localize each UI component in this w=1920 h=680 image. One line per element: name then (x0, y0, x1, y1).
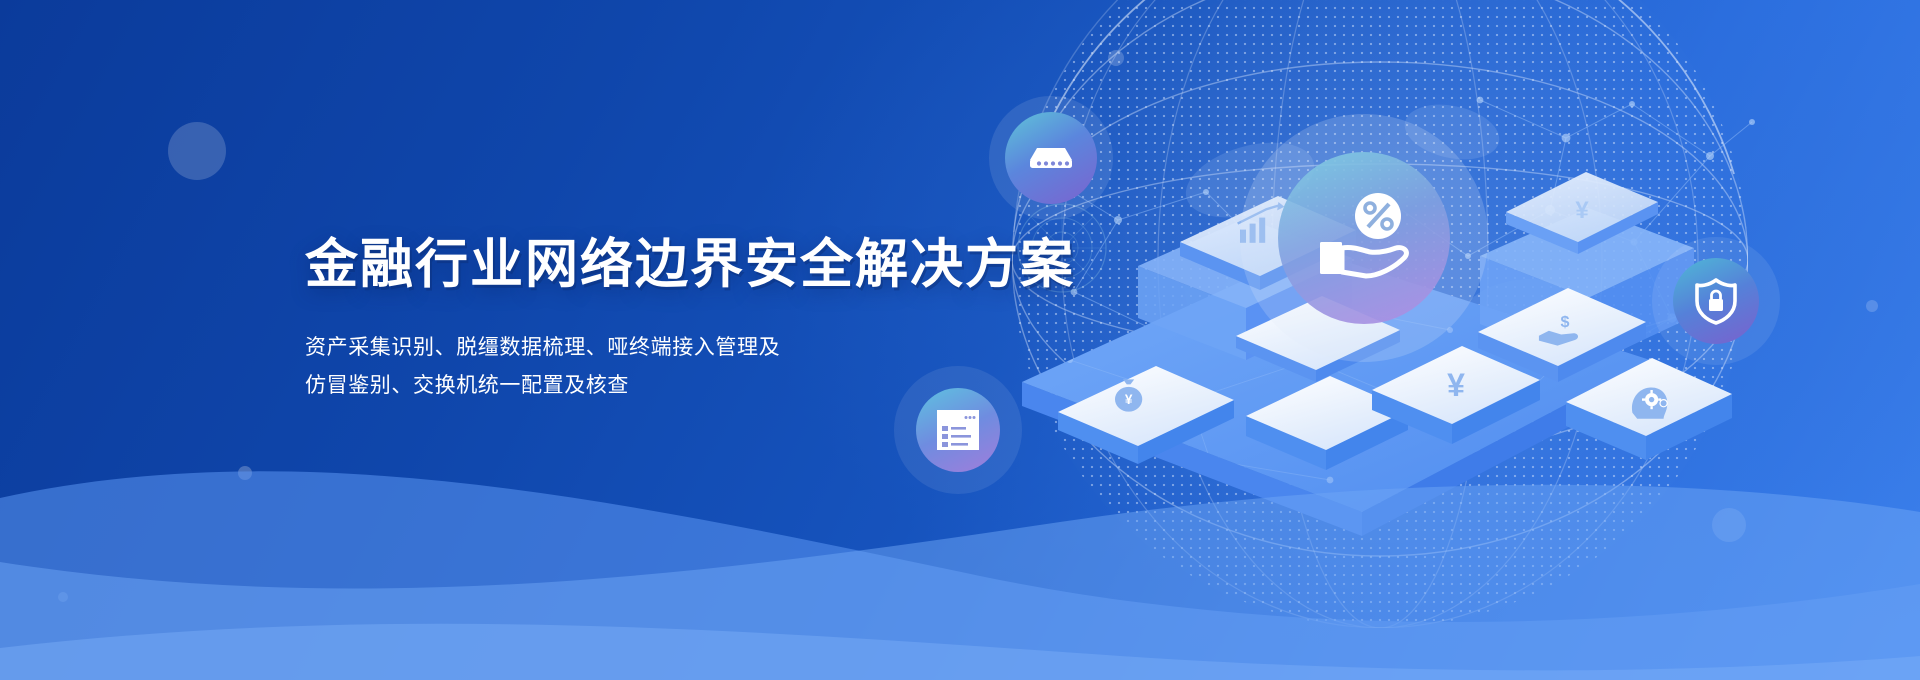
yen-raised-icon: ¥ (1575, 197, 1589, 224)
yen-icon: ¥ (1447, 367, 1465, 403)
percent-hand-icon (1312, 190, 1416, 286)
subtitle-line-2: 仿冒鉴别、交换机统一配置及核查 (305, 367, 1065, 404)
decorative-circle-right (1712, 508, 1746, 542)
shield-lock-icon (1694, 277, 1738, 325)
tile-hand-dollar: $ (1478, 288, 1646, 382)
document-list-icon (935, 407, 981, 453)
decorative-circle-small-upper (1108, 50, 1124, 66)
svg-text:¥: ¥ (1125, 392, 1133, 407)
hand-dollar-icon: $ (1539, 313, 1578, 346)
decorative-circle-large-left (168, 122, 226, 180)
tile-yen-raised: ¥ (1506, 172, 1658, 254)
router-icon-badge (1005, 112, 1097, 204)
percent-hand-icon-badge (1278, 152, 1450, 324)
decorative-dot-far-right (1866, 300, 1878, 312)
tile-money-bag: ¥ (1058, 366, 1234, 464)
decorative-dot-lower-left (58, 592, 68, 602)
banner-copy: 金融行业网络边界安全解决方案 资产采集识别、脱缰数据梳理、哑终端接入管理及 仿冒… (305, 236, 1065, 404)
svg-text:$: $ (1560, 313, 1569, 331)
decorative-dot-left (238, 466, 252, 480)
router-icon (1027, 143, 1075, 173)
tile-ai-head (1566, 358, 1732, 460)
ai-head-gear-icon (1632, 387, 1667, 418)
shield-lock-icon-badge (1673, 258, 1759, 344)
hero-banner: ¥ (0, 0, 1920, 680)
tile-yen: ¥ (1372, 346, 1540, 444)
subtitle-line-1: 资产采集识别、脱缰数据梳理、哑终端接入管理及 (305, 329, 1065, 366)
tile-blank-lower (1246, 376, 1408, 470)
banner-subtitle: 资产采集识别、脱缰数据梳理、哑终端接入管理及 仿冒鉴别、交换机统一配置及核查 (305, 329, 1065, 404)
page-title: 金融行业网络边界安全解决方案 (305, 236, 1065, 293)
money-bag-icon: ¥ (1115, 379, 1142, 411)
